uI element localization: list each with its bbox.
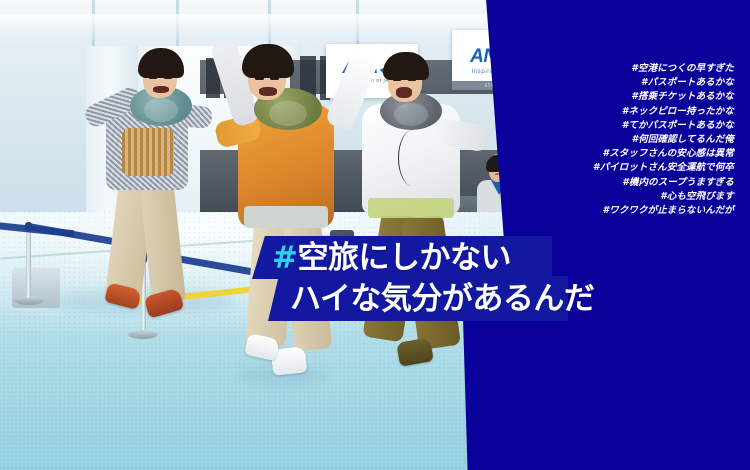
stanchion-base [128,330,158,339]
hashtag-item: #機内のスープうますぎる [486,176,736,190]
hashtag-item: #搭乗チケットあるかな [486,90,736,104]
traveler-sweater-stripe [122,128,174,176]
traveler-shirt-hem [244,206,328,228]
hashtag-item: #心も空飛びます [486,190,736,204]
hashtag-item: #ネックピロー持ったかな [486,105,736,119]
hashtag-item: #何回確認してるんだ俺 [486,133,736,147]
headline-band-top [252,236,552,279]
headline-band-bottom [268,276,568,321]
hashtag-item: #パイロットさん安全運航で何卒 [486,161,736,175]
hashtag-item: #パスポートあるかな [486,76,736,90]
hashtag-list: #空港につくの早すぎた #パスポートあるかな #搭乗チケットあるかな #ネックピ… [486,62,736,218]
traveler-hair [383,52,429,80]
stanchion-post [26,226,31,298]
traveler-shirt-hem [368,198,454,218]
hashtag-item: #てかパスポートあるかな [486,119,736,133]
earphone-cord [398,130,427,186]
ana-campaign-banner: ANA Inspiration of JAPAN ANA Inspiration… [0,0,750,470]
hashtag-item: #ワクワクが止まらないんだが [486,204,736,218]
hashtag-item: #スタッフさんの安心感は異常 [486,147,736,161]
hashtag-item: #空港につくの早すぎた [486,62,736,76]
